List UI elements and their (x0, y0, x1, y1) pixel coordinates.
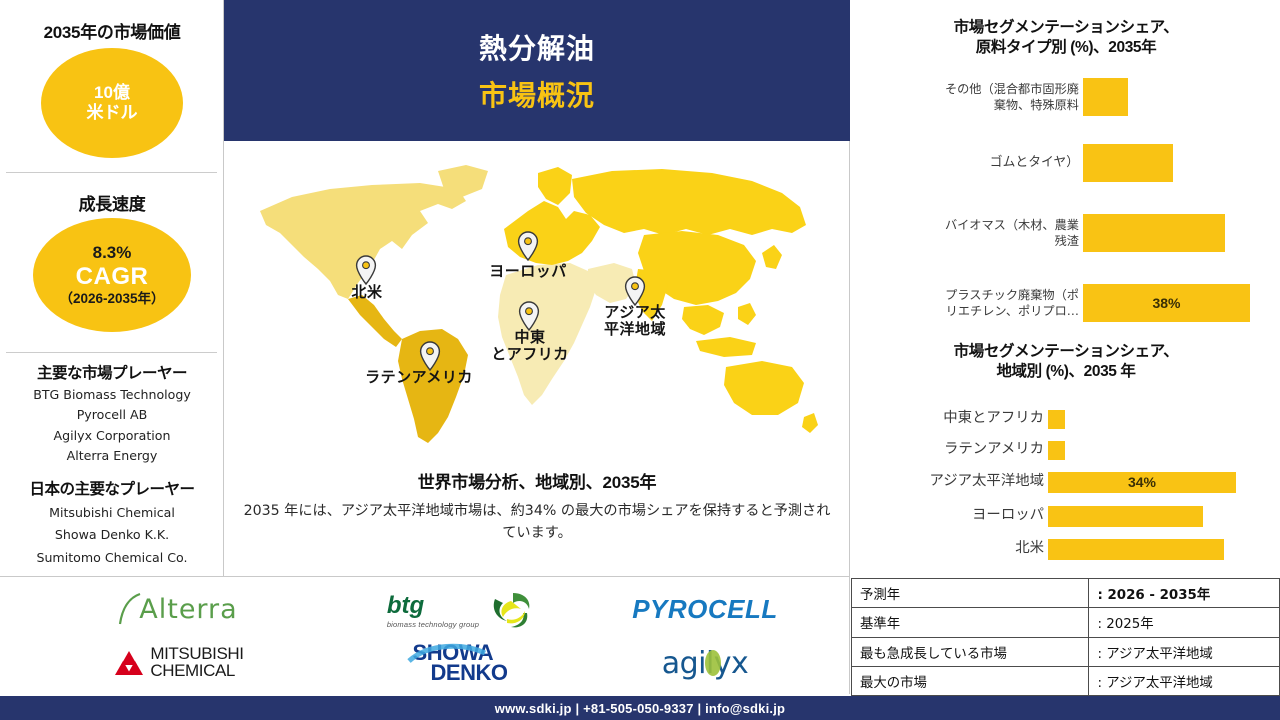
alterra-wordmark: Alterra (139, 594, 237, 625)
logo-pyrocell: PYROCELL (600, 583, 810, 635)
region-north-asia (572, 169, 806, 235)
chart-1-row: バイオマス（木材、農業 残渣 (851, 208, 1280, 258)
region-philippines (738, 303, 756, 325)
cagr-period: （2026-2035年） (59, 291, 164, 307)
map-pin-north-america[interactable] (355, 255, 377, 285)
chart-2-row: アジア太平洋地域 34% (851, 469, 1280, 495)
table-cell-key: 予測年 (852, 579, 1089, 608)
bar[interactable] (1048, 506, 1203, 527)
bar[interactable] (1048, 410, 1065, 429)
chart-2-title: 市場セグメンテーションシェア、 地域別 (%)、2035 年 (857, 342, 1275, 383)
region-scandinavia (538, 167, 572, 205)
map-pin-latin-america[interactable] (419, 341, 441, 371)
list-item: Pyrocell AB (0, 405, 224, 425)
region-australia (724, 361, 804, 415)
region-indonesia (696, 337, 756, 357)
map-pin-europe[interactable] (517, 231, 539, 261)
map-note: 2035 年には、アジア太平洋地域市場は、約34% の最大の市場シェアを保持する… (240, 500, 834, 544)
market-value-title: 2035年の市場価値 (0, 18, 224, 43)
table-row: 最大の市場 : アジア太平洋地域 (852, 666, 1280, 695)
center-panel: 熱分解油 市場概況 (224, 0, 850, 576)
bar[interactable] (1083, 214, 1225, 252)
bar-label: ヨーロッパ (851, 506, 1044, 525)
map-label-middle-east-africa: 中東 とアフリカ (471, 329, 589, 364)
bar-label: ゴムとタイヤ） (851, 154, 1079, 171)
page-title: 熱分解油 (479, 27, 595, 67)
market-value-amount: 10億 (94, 83, 130, 103)
btg-wordmark: btg (387, 592, 424, 620)
logo-alterra: Alterra (78, 583, 278, 635)
bar[interactable] (1048, 539, 1224, 560)
bar-label: プラスチック廃棄物（ポ リエチレン、ポリプロ… (851, 287, 1079, 320)
growth-rate-bubble: 8.3% CAGR （2026-2035年） (33, 218, 191, 332)
showa-swoosh-icon (407, 641, 597, 683)
chart-1-row: ゴムとタイヤ） (851, 140, 1280, 186)
bar[interactable] (1083, 144, 1173, 182)
table-cell-value: : アジア太平洋地域 (1089, 666, 1280, 695)
key-players-list: BTG Biomass Technology Pyrocell AB Agily… (0, 385, 224, 467)
bar[interactable]: 34% (1048, 472, 1236, 493)
table-cell-value: : 2026 - 2035年 (1089, 579, 1280, 608)
chart-2-row: ヨーロッパ (851, 503, 1280, 529)
key-players-title: 主要な市場プレーヤー (0, 361, 224, 383)
bar-label: その他（混合都市固形廃 棄物、特殊原料 (851, 81, 1079, 114)
bar-label: バイオマス（木材、農業 残渣 (851, 217, 1079, 250)
chart-1-row: プラスチック廃棄物（ポ リエチレン、ポリプロ… 38% (851, 278, 1280, 328)
hero-banner: 熱分解油 市場概況 (224, 0, 850, 141)
agilyx-leaf-icon (702, 648, 724, 678)
chart-2-row: 中東とアフリカ (851, 406, 1280, 432)
list-item: Mitsubishi Chemical (0, 502, 224, 524)
map-label-latin-america: ラテンアメリカ (347, 369, 491, 386)
chart-1-title: 市場セグメンテーションシェア、 原料タイプ別 (%)、2035年 (857, 18, 1275, 59)
chart-1-row: その他（混合都市固形廃 棄物、特殊原料 (851, 70, 1280, 124)
japan-players-list: Mitsubishi Chemical Showa Denko K.K. Sum… (0, 502, 224, 569)
map-label-north-america: 北米 (331, 284, 403, 301)
bar[interactable]: 38% (1083, 284, 1250, 322)
market-value-bubble: 10億 米ドル (41, 48, 183, 158)
pyrocell-wordmark: PYROCELL (632, 594, 778, 625)
divider-1 (6, 172, 217, 173)
mitsubishi-line2: CHEMICAL (150, 663, 243, 680)
world-map: 北米 ヨーロッパ アジア太 平洋地域 中東 とアフリカ ラテンアメリカ (224, 141, 850, 461)
table-cell-value: : アジア太平洋地域 (1089, 637, 1280, 666)
list-item: Alterra Energy (0, 446, 224, 466)
summary-table: 予測年 : 2026 - 2035年 基準年 : 2025年 最も急成長している… (851, 578, 1280, 696)
table-row: 予測年 : 2026 - 2035年 (852, 579, 1280, 608)
infographic-page: 2035年の市場価値 10億 米ドル 成長速度 8.3% CAGR （2026-… (0, 0, 1280, 720)
cagr-label: CAGR (76, 263, 149, 291)
page-subtitle: 市場概況 (479, 74, 595, 114)
table-cell-key: 最大の市場 (852, 666, 1089, 695)
map-pin-middle-east-africa[interactable] (518, 301, 540, 331)
logo-agilyx: agilyx (600, 639, 810, 687)
list-item: Sumitomo Chemical Co. (0, 547, 224, 569)
region-new-zealand (802, 413, 818, 433)
bar-label: アジア太平洋地域 (851, 472, 1044, 491)
table-row: 最も急成長している市場 : アジア太平洋地域 (852, 637, 1280, 666)
footer-contact: www.sdki.jp | +81-505-050-9337 | info@sd… (495, 701, 785, 716)
logo-strip: Alterra btg biomass technology group PYR (0, 576, 850, 694)
table-row: 基準年 : 2025年 (852, 608, 1280, 637)
bar-label: ラテンアメリカ (851, 440, 1044, 459)
bar[interactable] (1083, 78, 1128, 116)
right-panel: 市場セグメンテーションシェア、 原料タイプ別 (%)、2035年 その他（混合都… (851, 0, 1280, 572)
btg-tagline: biomass technology group (387, 620, 479, 629)
btg-leaf-icon (483, 589, 533, 629)
market-value-unit: 米ドル (87, 103, 138, 123)
bar-value: 38% (1152, 295, 1180, 311)
bar-label: 北米 (851, 539, 1044, 558)
mitsubishi-diamond-icon (112, 648, 146, 678)
map-pin-asia-pacific[interactable] (624, 276, 646, 306)
region-central-america (348, 295, 402, 347)
chart-2-row: ラテンアメリカ (851, 437, 1280, 463)
cagr-value: 8.3% (93, 243, 132, 263)
divider-2 (6, 352, 217, 353)
map-caption: 世界市場分析、地域別、2035年 (224, 468, 850, 493)
logo-btg: btg biomass technology group (350, 583, 570, 635)
map-label-asia-pacific: アジア太 平洋地域 (576, 304, 694, 339)
list-item: Agilyx Corporation (0, 426, 224, 446)
list-item: Showa Denko K.K. (0, 524, 224, 546)
japan-players-title: 日本の主要なプレーヤー (0, 477, 224, 499)
footer-bar: www.sdki.jp | +81-505-050-9337 | info@sd… (0, 696, 1280, 720)
region-japan (762, 245, 782, 269)
left-sidebar: 2035年の市場価値 10億 米ドル 成長速度 8.3% CAGR （2026-… (0, 0, 224, 576)
bar-value: 34% (1128, 474, 1156, 490)
bar-label: 中東とアフリカ (851, 409, 1044, 428)
table-cell-key: 基準年 (852, 608, 1089, 637)
logo-showa-denko: SHOWA DENKO (350, 639, 570, 687)
list-item: BTG Biomass Technology (0, 385, 224, 405)
table-cell-key: 最も急成長している市場 (852, 637, 1089, 666)
table-cell-value: : 2025年 (1089, 608, 1280, 637)
growth-rate-title: 成長速度 (0, 190, 224, 215)
logo-mitsubishi-chemical: MITSUBISHI CHEMICAL (78, 639, 278, 687)
map-label-europe: ヨーロッパ (464, 263, 592, 280)
bar[interactable] (1048, 441, 1065, 460)
chart-2-row: 北米 (851, 536, 1280, 562)
